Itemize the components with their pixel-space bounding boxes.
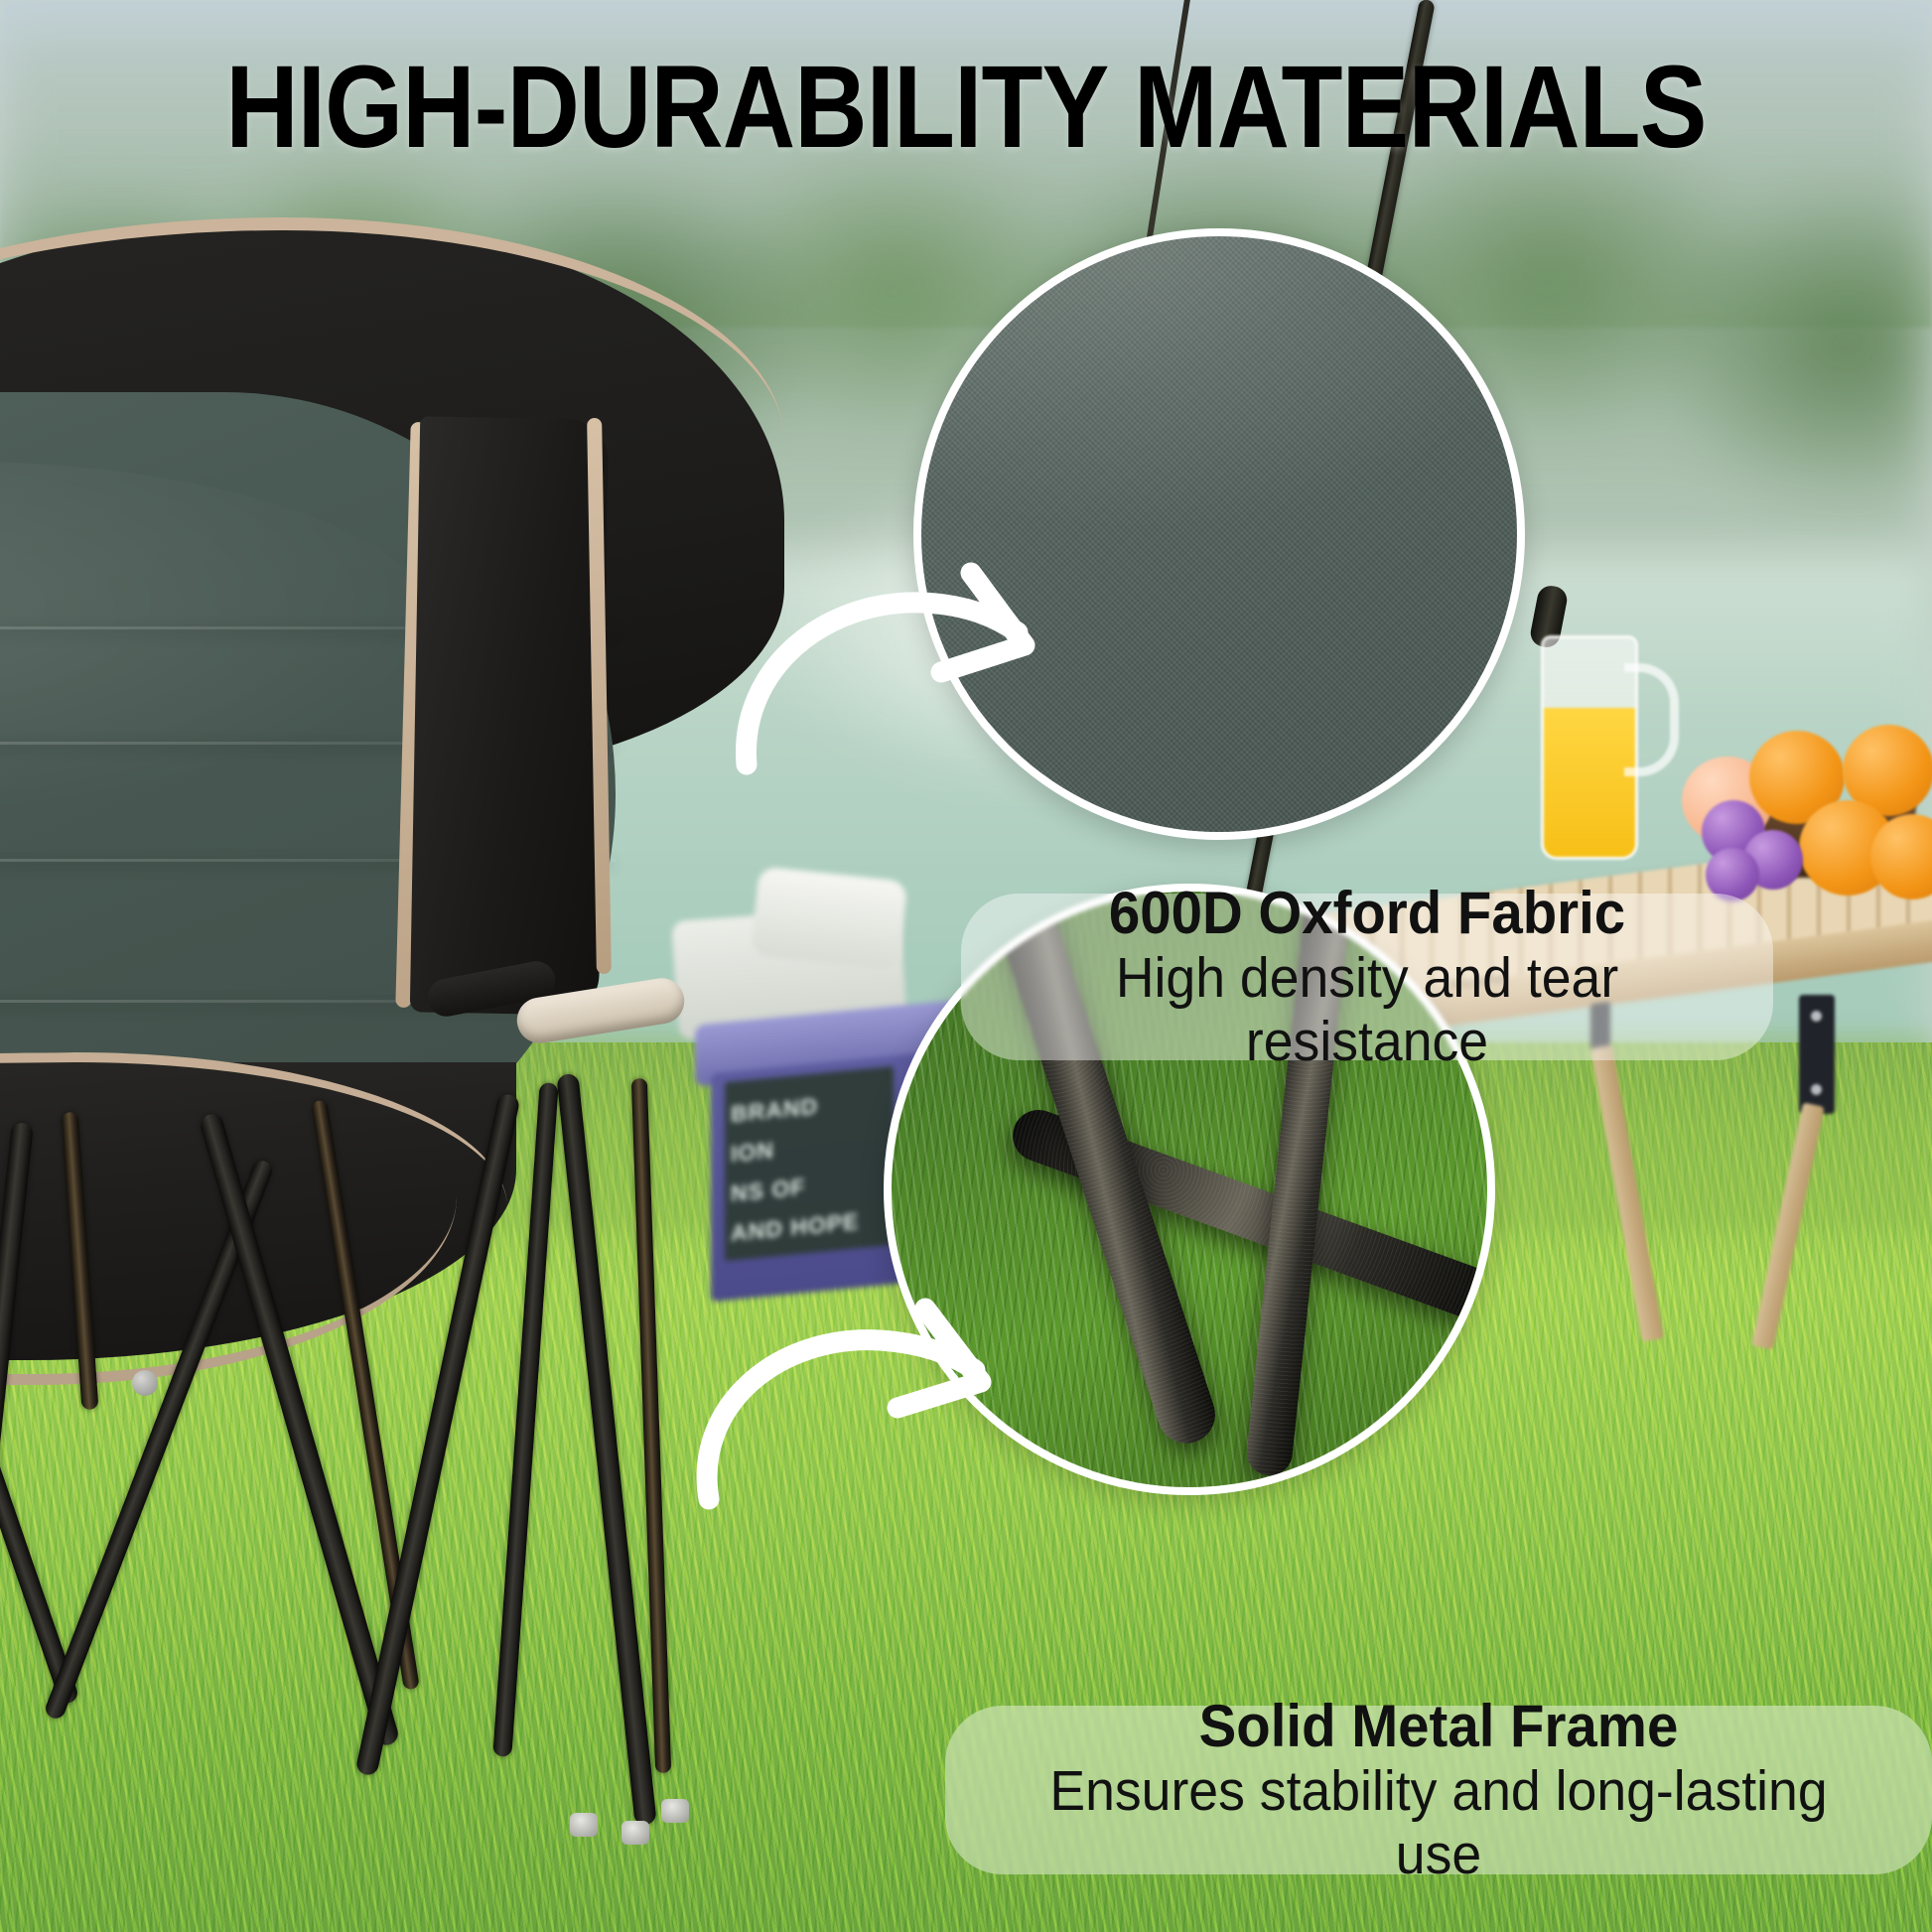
chair-foot-c (661, 1799, 689, 1823)
leg-pivot-left (132, 1370, 158, 1396)
callout-frame-heading: Solid Metal Frame (1003, 1694, 1874, 1759)
table-bracket-icon (1799, 995, 1835, 1114)
fabric-sheen (913, 228, 1525, 534)
pitcher-handle (1624, 663, 1679, 776)
orange-juice (1544, 708, 1635, 857)
page-title: HIGH-DURABILITY MATERIALS (135, 46, 1797, 169)
callout-frame-subheading: Ensures stability and long-lasting use (1003, 1759, 1874, 1886)
chair-side-flap (410, 416, 609, 1015)
chair-foot-b (621, 1821, 649, 1845)
callout-fabric: 600D Oxford Fabric High density and tear… (961, 894, 1773, 1060)
zoom-circle-fabric (913, 228, 1525, 840)
callout-fabric-subheading: High density and tear resistance (1014, 946, 1722, 1073)
table-leg-mid (1590, 1044, 1664, 1341)
product-feature-banner: Niceme BRAND (0, 0, 1932, 1932)
chair-foot-a (570, 1813, 598, 1837)
callout-fabric-heading: 600D Oxford Fabric (1014, 881, 1722, 946)
camping-chair (0, 223, 854, 1534)
callout-frame: Solid Metal Frame Ensures stability and … (945, 1706, 1932, 1874)
table-leg-right (1751, 1102, 1824, 1349)
